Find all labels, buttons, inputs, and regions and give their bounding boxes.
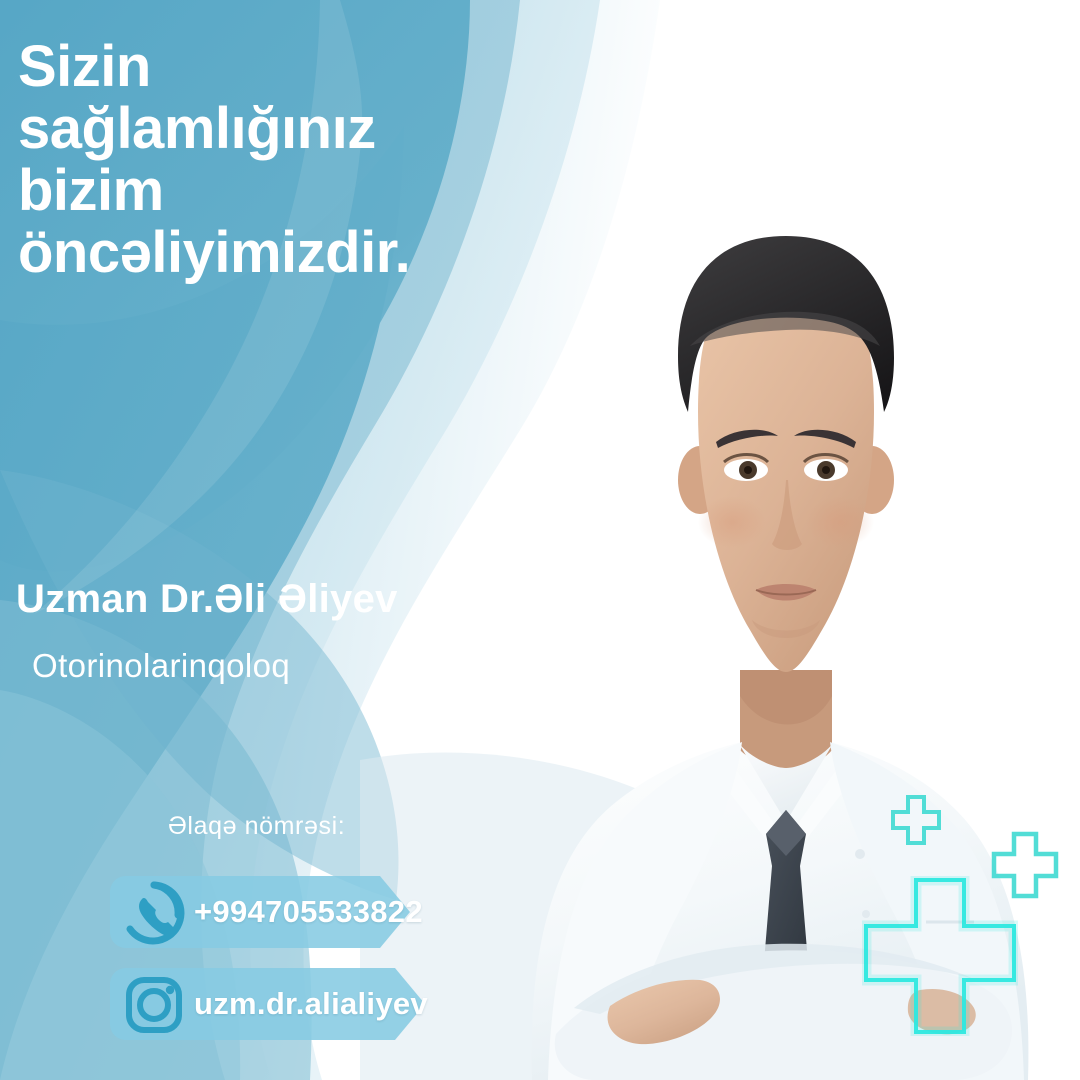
page-title: Sizin sağlamlığınız bizim öncəliyimizdir… [18,36,488,284]
doctor-specialty: Otorinolarinqoloq [32,647,290,685]
contact-label: Əlaqə nömrəsi: [168,812,345,841]
medical-cross-small-1-icon [890,794,942,846]
headline-line-2: sağlamlığınız [18,98,488,160]
doctor-name: Uzman Dr.Əli Əliyev [16,577,398,622]
headline-line-1: Sizin [18,36,488,98]
instagram-handle[interactable]: uzm.dr.alialiyev [194,968,428,1040]
phone-number[interactable]: +994705533822 [194,876,423,948]
poster-canvas: Sizin sağlamlığınız bizim öncəliyimizdir… [0,0,1080,1080]
medical-cross-small-2-icon [990,830,1060,900]
instagram-icon [116,969,192,1041]
headline-line-4: öncəliyimizdir. [18,222,488,284]
headline-line-3: bizim [18,160,488,222]
contact-phone-badge[interactable]: +994705533822 [110,876,410,948]
phone-icon [116,877,192,949]
contact-instagram-badge[interactable]: uzm.dr.alialiyev [110,968,425,1040]
medical-cross-large-icon [862,876,1018,1036]
